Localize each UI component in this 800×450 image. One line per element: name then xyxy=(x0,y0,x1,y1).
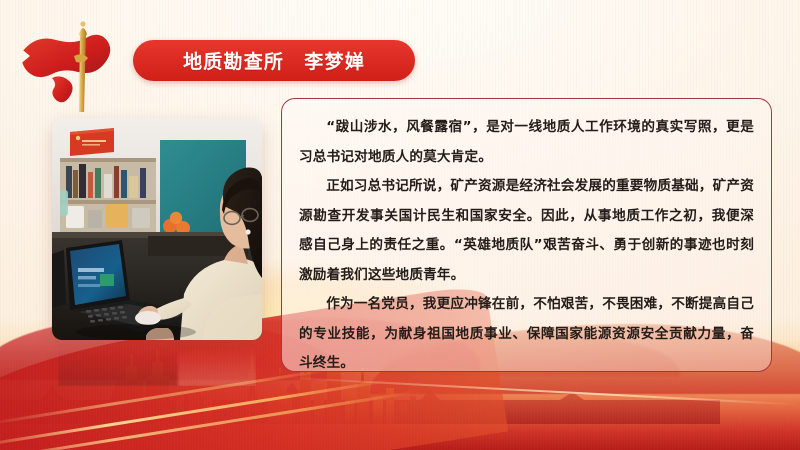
paragraph-1: “跋山涉水，风餐露宿”，是对一线地质人工作环境的真实写照，更是习总书记对地质人的… xyxy=(299,113,754,172)
content-card: “跋山涉水，风餐露宿”，是对一线地质人工作环境的真实写照，更是习总书记对地质人的… xyxy=(281,98,772,372)
photo-reflection xyxy=(58,342,256,386)
title-text: 地质勘查所 李梦婵 xyxy=(183,47,365,74)
title-pill[interactable]: 地质勘查所 李梦婵 xyxy=(133,40,415,81)
photo-container xyxy=(52,118,262,340)
photo-illustration xyxy=(52,118,262,340)
paragraph-2: 正如习总书记所说，矿产资源是经济社会发展的重要物质基础，矿产资源勘查开发事关国计… xyxy=(299,172,754,290)
photo-reflection-art xyxy=(58,342,256,386)
paragraph-3: 作为一名党员，我更应冲锋在前，不怕艰苦，不畏困难，不断提高自己的专业技能，为献身… xyxy=(299,290,754,379)
poster-root: 地质勘查所 李梦婵 xyxy=(0,0,800,450)
party-flag-icon xyxy=(8,16,126,116)
member-photo xyxy=(52,118,262,340)
